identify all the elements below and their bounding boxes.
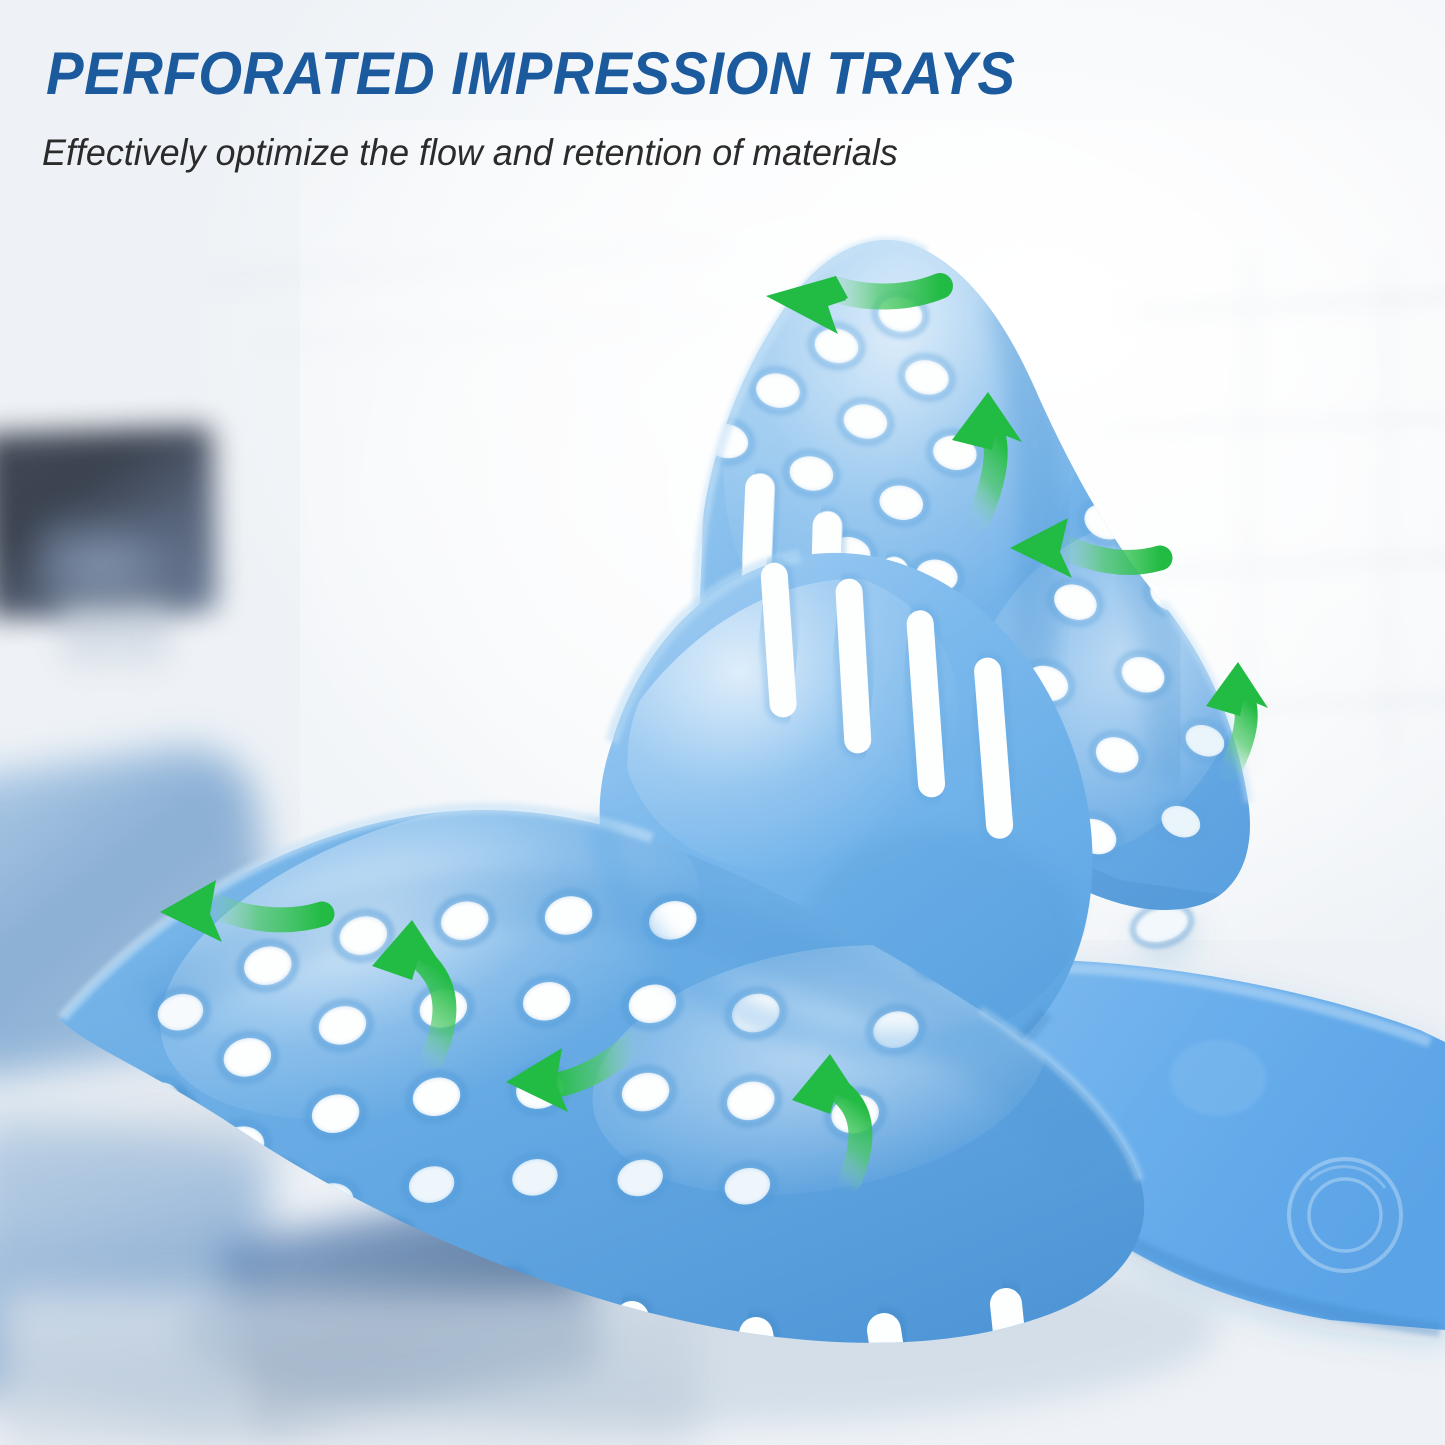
handle-emboss-dot bbox=[1170, 1040, 1266, 1116]
page-title: PERFORATED IMPRESSION TRAYS bbox=[46, 44, 1015, 104]
page-subtitle: Effectively optimize the flow and retent… bbox=[42, 132, 898, 175]
product-marketing-image: PERFORATED IMPRESSION TRAYS Effectively … bbox=[0, 0, 1445, 1445]
impression-tray-illustration bbox=[0, 0, 1445, 1445]
